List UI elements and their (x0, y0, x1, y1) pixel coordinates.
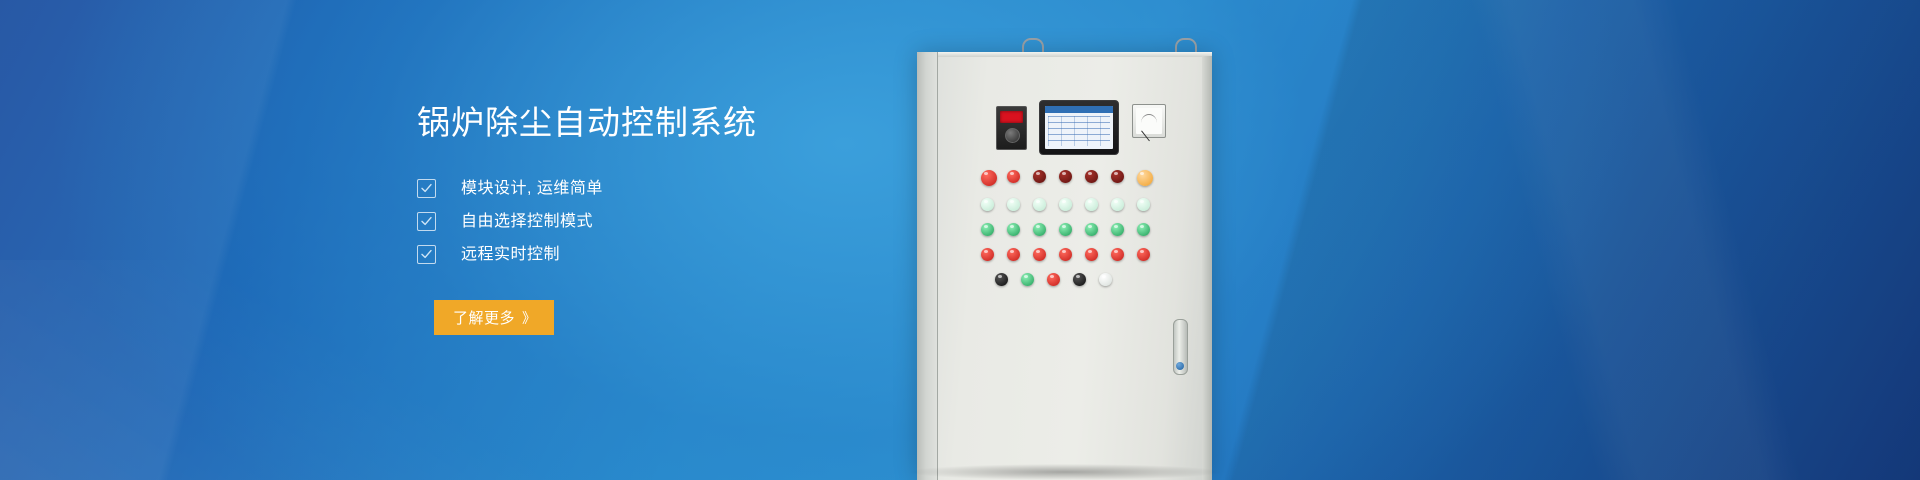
chevron-right-icon: 》 (522, 308, 535, 328)
cabinet-door-handle[interactable] (1173, 319, 1188, 375)
indicator-lamp-darkred (1033, 170, 1046, 183)
lamp-row (981, 273, 1165, 286)
lamp-row (981, 223, 1165, 236)
learn-more-button[interactable]: 了解更多 》 (434, 300, 554, 335)
indicator-lamp-green (1007, 223, 1020, 236)
checkbox-check-icon (417, 212, 436, 231)
feature-label: 远程实时控制 (461, 245, 560, 265)
control-cabinet-image (900, 0, 1330, 480)
indicator-lamp-red (1059, 248, 1072, 261)
learn-more-label: 了解更多 (453, 307, 515, 328)
cabinet-side-panel (1202, 56, 1212, 480)
indicator-lamp-palegreen (1033, 198, 1046, 211)
feature-label: 自由选择控制模式 (461, 212, 593, 232)
indicator-lamp-darkred (1085, 170, 1098, 183)
indicator-lamp-black (1073, 273, 1086, 286)
indicator-lamp-red (981, 170, 997, 186)
gauge-face (1136, 108, 1162, 134)
indicator-lamp-red (981, 248, 994, 261)
lamp-row (981, 248, 1165, 261)
checkbox-check-icon (417, 179, 436, 198)
indicator-lamp-green (1021, 273, 1034, 286)
indicator-lamp-amber (1137, 170, 1153, 186)
hmi-data-grid (1048, 116, 1110, 146)
indicator-lamp-darkred (1111, 170, 1124, 183)
gauge-needle (1141, 130, 1150, 141)
indicator-lamp-red (1007, 170, 1020, 183)
control-cabinet-body (917, 52, 1212, 480)
hmi-touchscreen-panel (1039, 100, 1119, 155)
cabinet-floor-shadow (910, 464, 1220, 480)
indicator-lamp-green (1085, 223, 1098, 236)
lock-icon (1176, 362, 1184, 370)
indicator-lamp-palegreen (1111, 198, 1124, 211)
indicator-lamp-green (981, 223, 994, 236)
banner-copy: 锅炉除尘自动控制系统 模块设计, 运维简单 自由选择控制模式 (417, 103, 937, 335)
checkbox-check-icon (417, 245, 436, 264)
hmi-title-bar (1045, 106, 1113, 113)
feature-item-1: 模块设计, 运维简单 (417, 172, 937, 205)
digital-display-module (996, 106, 1027, 150)
feature-list: 模块设计, 运维简单 自由选择控制模式 远程实时控制 (417, 172, 937, 271)
gauge-scale-arc (1141, 114, 1157, 123)
digital-readout (1000, 111, 1023, 123)
indicator-lamp-red (1111, 248, 1124, 261)
indicator-lamp-grid (981, 170, 1165, 298)
hmi-screen (1045, 106, 1113, 149)
feature-item-2: 自由选择控制模式 (417, 205, 937, 238)
indicator-lamp-green (1033, 223, 1046, 236)
page-title: 锅炉除尘自动控制系统 (417, 103, 937, 143)
indicator-lamp-palegreen (1137, 198, 1150, 211)
indicator-lamp-black (995, 273, 1008, 286)
lamp-row (981, 198, 1165, 211)
indicator-lamp-palegreen (1059, 198, 1072, 211)
indicator-lamp-green (1059, 223, 1072, 236)
indicator-lamp-red (1137, 248, 1150, 261)
feature-label: 模块设计, 运维简单 (461, 179, 603, 199)
indicator-lamp-green (1137, 223, 1150, 236)
indicator-lamp-palegreen (1007, 198, 1020, 211)
indicator-lamp-white (1099, 273, 1112, 286)
indicator-lamp-red (1047, 273, 1060, 286)
analog-gauge-meter (1132, 104, 1166, 138)
rotary-knob-icon (1005, 128, 1020, 143)
cabinet-top-edge (917, 52, 1212, 57)
indicator-lamp-red (1007, 248, 1020, 261)
feature-item-3: 远程实时控制 (417, 238, 937, 271)
indicator-lamp-green (1111, 223, 1124, 236)
indicator-lamp-palegreen (1085, 198, 1098, 211)
lamp-row (981, 170, 1165, 186)
indicator-lamp-palegreen (981, 198, 994, 211)
hero-banner: 锅炉除尘自动控制系统 模块设计, 运维简单 自由选择控制模式 (0, 0, 1920, 480)
indicator-lamp-red (1033, 248, 1046, 261)
indicator-lamp-red (1085, 248, 1098, 261)
indicator-lamp-darkred (1059, 170, 1072, 183)
